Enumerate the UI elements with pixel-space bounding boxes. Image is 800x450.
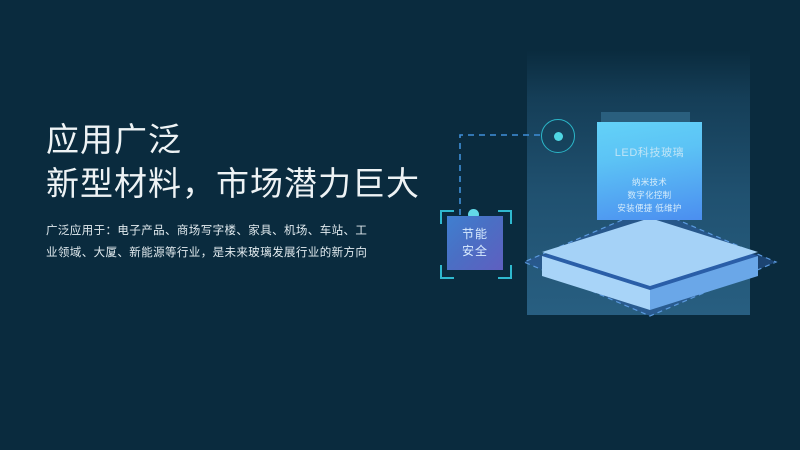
glass-panel-front: LED科技玻璃 纳米技术 数字化控制 安装便捷 低维护	[597, 122, 702, 220]
callout-line-2: 安全	[462, 243, 488, 260]
headline-line-1: 应用广泛	[46, 118, 420, 162]
callout-box: 节能 安全	[447, 216, 503, 270]
connector-node-ring	[541, 119, 575, 153]
headline: 应用广泛 新型材料，市场潜力巨大	[46, 118, 420, 206]
connector-node-dot	[554, 132, 563, 141]
headline-line-2: 新型材料，市场潜力巨大	[46, 162, 420, 206]
panel-feature: 安装便捷 低维护	[617, 202, 681, 215]
callout-line-1: 节能	[462, 226, 488, 243]
slide-canvas: LED科技玻璃 纳米技术 数字化控制 安装便捷 低维护 节能 安全 应用广泛 新…	[0, 0, 800, 450]
panel-feature-list: 纳米技术 数字化控制 安装便捷 低维护	[617, 176, 681, 215]
body-paragraph: 广泛应用于：电子产品、商场写字楼、家具、机场、车站、工业领域、大厦、新能源等行业…	[46, 220, 376, 264]
panel-feature: 纳米技术	[632, 176, 667, 189]
panel-feature: 数字化控制	[627, 189, 671, 202]
panel-title: LED科技玻璃	[615, 144, 685, 160]
